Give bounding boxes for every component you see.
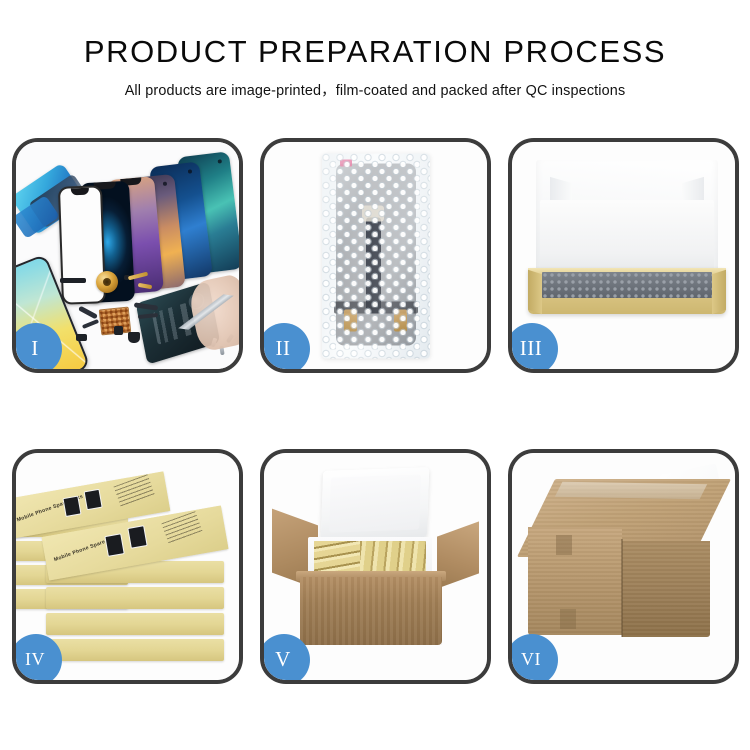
page-subtitle: All products are image-printed，film-coat… xyxy=(0,79,750,100)
carton-seam-upper xyxy=(556,535,572,555)
box-artwork-thumb-1b xyxy=(84,489,103,510)
carton-right-face xyxy=(622,541,710,637)
tray-edge-right xyxy=(712,270,726,315)
retail-box-r4 xyxy=(46,639,224,661)
speaker-module xyxy=(128,332,140,343)
step-panel-4: Mobile Phone Spare Parts Mobile Phone Sp… xyxy=(12,449,243,684)
wireless-charging-coil xyxy=(96,271,118,293)
tweezers xyxy=(176,288,235,335)
earpiece-mesh xyxy=(60,278,86,283)
step-badge-3: III xyxy=(512,323,558,369)
box-artwork-thumb-1a xyxy=(62,496,81,517)
step-image-1: I xyxy=(16,142,239,369)
process-step-grid: I II xyxy=(12,138,739,684)
step-image-6: VI xyxy=(512,453,735,680)
bubble-wrapped-contents xyxy=(542,272,712,298)
step-badge-2: II xyxy=(264,323,310,369)
bubble-wrap-bag xyxy=(322,153,430,358)
foam-lid xyxy=(321,467,430,541)
small-chip-b xyxy=(76,334,87,341)
plastic-sheen xyxy=(322,153,430,358)
step-image-3: III xyxy=(512,142,735,369)
foam-sheet xyxy=(540,200,714,276)
retail-box-r3 xyxy=(46,613,224,635)
box-artwork-thumb-2b xyxy=(127,525,147,549)
inner-box-tray xyxy=(528,268,726,314)
product-preparation-page: PRODUCT PREPARATION PROCESS All products… xyxy=(0,0,750,750)
step-panel-2: II xyxy=(260,138,491,373)
packing-tape xyxy=(555,482,707,500)
page-header: PRODUCT PREPARATION PROCESS All products… xyxy=(0,0,750,100)
carton-front-panel xyxy=(300,577,442,645)
step-image-5: V xyxy=(264,453,487,680)
carton-seam-lower xyxy=(560,609,576,629)
step-badge-6: VI xyxy=(512,634,558,680)
step-image-4: Mobile Phone Spare Parts Mobile Phone Sp… xyxy=(16,453,239,680)
step-panel-1: I xyxy=(12,138,243,373)
retail-box-r2 xyxy=(46,587,224,609)
small-chip-c xyxy=(114,326,123,335)
step-panel-3: III xyxy=(508,138,739,373)
step-panel-6: VI xyxy=(508,449,739,684)
step-image-2: II xyxy=(264,142,487,369)
page-title: PRODUCT PREPARATION PROCESS xyxy=(0,36,750,69)
step-panel-5: V xyxy=(260,449,491,684)
carton-vertical-edge xyxy=(621,539,623,637)
tray-edge-left xyxy=(528,270,542,315)
box-artwork-thumb-2a xyxy=(104,533,124,557)
